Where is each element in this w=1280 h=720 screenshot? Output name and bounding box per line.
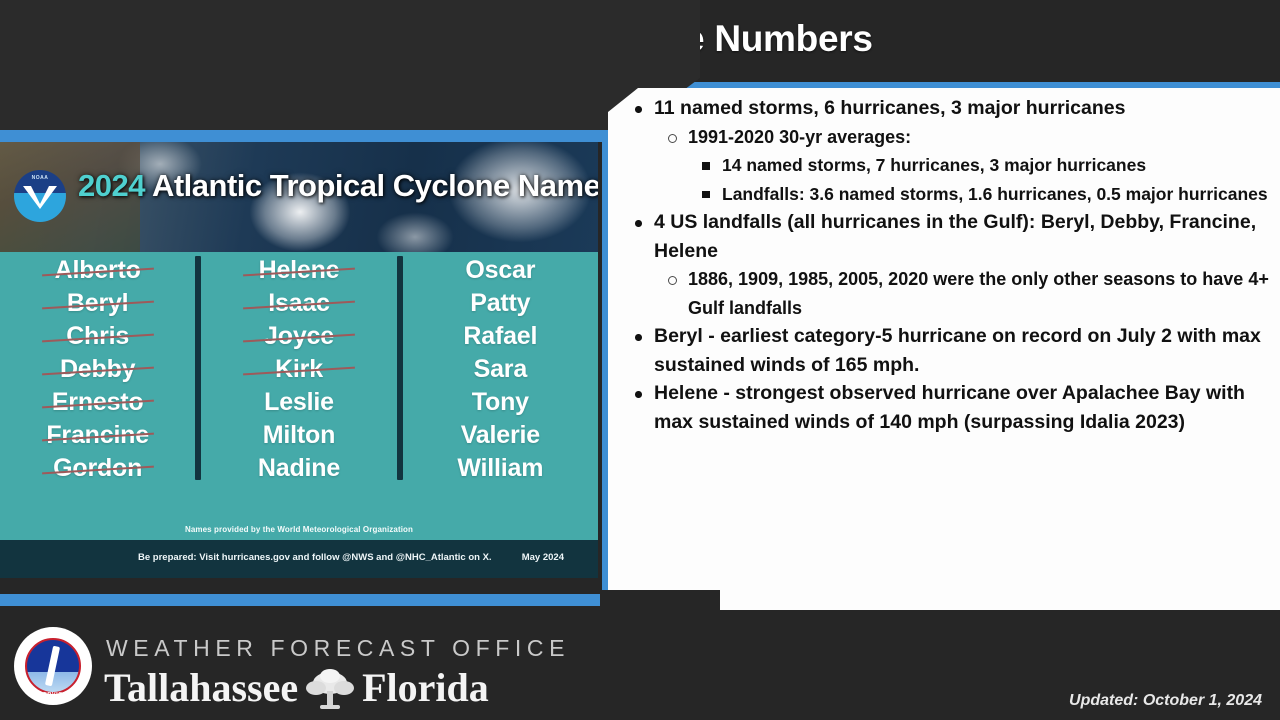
cyclone-name: Oscar bbox=[403, 254, 598, 287]
names-column: OscarPattyRafaelSaraTonyValerieWilliam bbox=[403, 252, 598, 485]
bullet-item-l2: 1991-2020 30-yr averages: bbox=[618, 123, 1278, 152]
oak-tree-icon bbox=[304, 665, 356, 711]
bullet-item-l3: Landfalls: 3.6 named storms, 1.6 hurrica… bbox=[618, 180, 1278, 209]
cyclone-name: Sara bbox=[403, 353, 598, 386]
names-column: AlbertoBerylChrisDebbyErnestoFrancineGor… bbox=[0, 252, 195, 485]
bullet-item-l1: Helene - strongest observed hurricane ov… bbox=[618, 379, 1278, 436]
wfo-footer-bar: NATIONAL WEATHER SERVICE WEATHER FORECAS… bbox=[0, 610, 1280, 720]
updated-timestamp: Updated: October 1, 2024 bbox=[1069, 692, 1262, 710]
cyclone-name: Helene bbox=[201, 254, 396, 287]
office-city: Tallahassee bbox=[104, 664, 298, 711]
cyclone-name: Debby bbox=[0, 353, 195, 386]
names-column: HeleneIsaacJoyceKirkLeslieMiltonNadine bbox=[201, 252, 396, 485]
slide-root: NOAA 2024 Atlantic Tropical Cyclone Name… bbox=[0, 0, 1280, 720]
cyclone-name: Isaac bbox=[201, 287, 396, 320]
footer-diagonal-mask bbox=[600, 590, 720, 620]
cyclone-name: Kirk bbox=[201, 353, 396, 386]
bullet-item-l1: 4 US landfalls (all hurricanes in the Gu… bbox=[618, 208, 1278, 265]
cyclone-name: Ernesto bbox=[0, 386, 195, 419]
cyclone-name: Nadine bbox=[201, 452, 396, 485]
names-credit: Names provided by the World Meteorologic… bbox=[0, 525, 598, 534]
cyclone-name: Gordon bbox=[0, 452, 195, 485]
names-banner-title: 2024 Atlantic Tropical Cyclone Names bbox=[78, 168, 598, 204]
noaa-logo: NOAA bbox=[14, 170, 66, 222]
names-footer-left-text: Be prepared: Visit hurricanes.gov and fo… bbox=[138, 552, 492, 563]
seal-top-text: NATIONAL WEATHER bbox=[14, 634, 92, 640]
seal-lightning-bolt-icon bbox=[45, 646, 60, 687]
bullet-list: 11 named storms, 6 hurricanes, 3 major h… bbox=[618, 94, 1278, 436]
cyclone-name: Milton bbox=[201, 419, 396, 452]
cyclone-name: Patty bbox=[403, 287, 598, 320]
cyclone-name: Joyce bbox=[201, 320, 396, 353]
bullet-item-l1: 11 named storms, 6 hurricanes, 3 major h… bbox=[618, 94, 1278, 123]
cyclone-name: Valerie bbox=[403, 419, 598, 452]
bullet-item-l2: 1886, 1909, 1985, 2005, 2020 were the on… bbox=[618, 265, 1278, 322]
cyclone-names-graphic: NOAA 2024 Atlantic Tropical Cyclone Name… bbox=[0, 142, 598, 598]
cyclone-name: William bbox=[403, 452, 598, 485]
names-columns: AlbertoBerylChrisDebbyErnestoFrancineGor… bbox=[0, 252, 598, 540]
cyclone-name: Chris bbox=[0, 320, 195, 353]
noaa-bird-icon bbox=[21, 184, 59, 210]
office-state: Florida bbox=[362, 664, 489, 711]
names-banner-heading: Atlantic Tropical Cyclone Names bbox=[152, 168, 598, 203]
header-bar bbox=[0, 0, 700, 130]
cyclone-name: Francine bbox=[0, 419, 195, 452]
noaa-logo-text: NOAA bbox=[14, 175, 66, 181]
nws-seal-logo: NATIONAL WEATHER SERVICE bbox=[14, 627, 92, 705]
office-location: Tallahassee Florida bbox=[104, 664, 489, 711]
bullet-item-l1: Beryl - earliest category-5 hurricane on… bbox=[618, 322, 1278, 379]
content-panel: 11 named storms, 6 hurricanes, 3 major h… bbox=[608, 88, 1280, 634]
names-footer-bar: Be prepared: Visit hurricanes.gov and fo… bbox=[0, 540, 598, 578]
cyclone-name: Tony bbox=[403, 386, 598, 419]
cyclone-name: Beryl bbox=[0, 287, 195, 320]
names-banner-year: 2024 bbox=[78, 168, 145, 203]
names-banner: NOAA 2024 Atlantic Tropical Cyclone Name… bbox=[0, 142, 598, 252]
names-footer-date: May 2024 bbox=[522, 552, 564, 563]
seal-bottom-text: SERVICE bbox=[14, 692, 92, 698]
cyclone-name: Rafael bbox=[403, 320, 598, 353]
seal-inner-disc bbox=[27, 640, 79, 692]
bullet-item-l3: 14 named storms, 7 hurricanes, 3 major h… bbox=[618, 151, 1278, 180]
office-label: WEATHER FORECAST OFFICE bbox=[106, 635, 570, 662]
cyclone-name: Leslie bbox=[201, 386, 396, 419]
names-body: AlbertoBerylChrisDebbyErnestoFrancineGor… bbox=[0, 252, 598, 540]
cyclone-name: Alberto bbox=[0, 254, 195, 287]
